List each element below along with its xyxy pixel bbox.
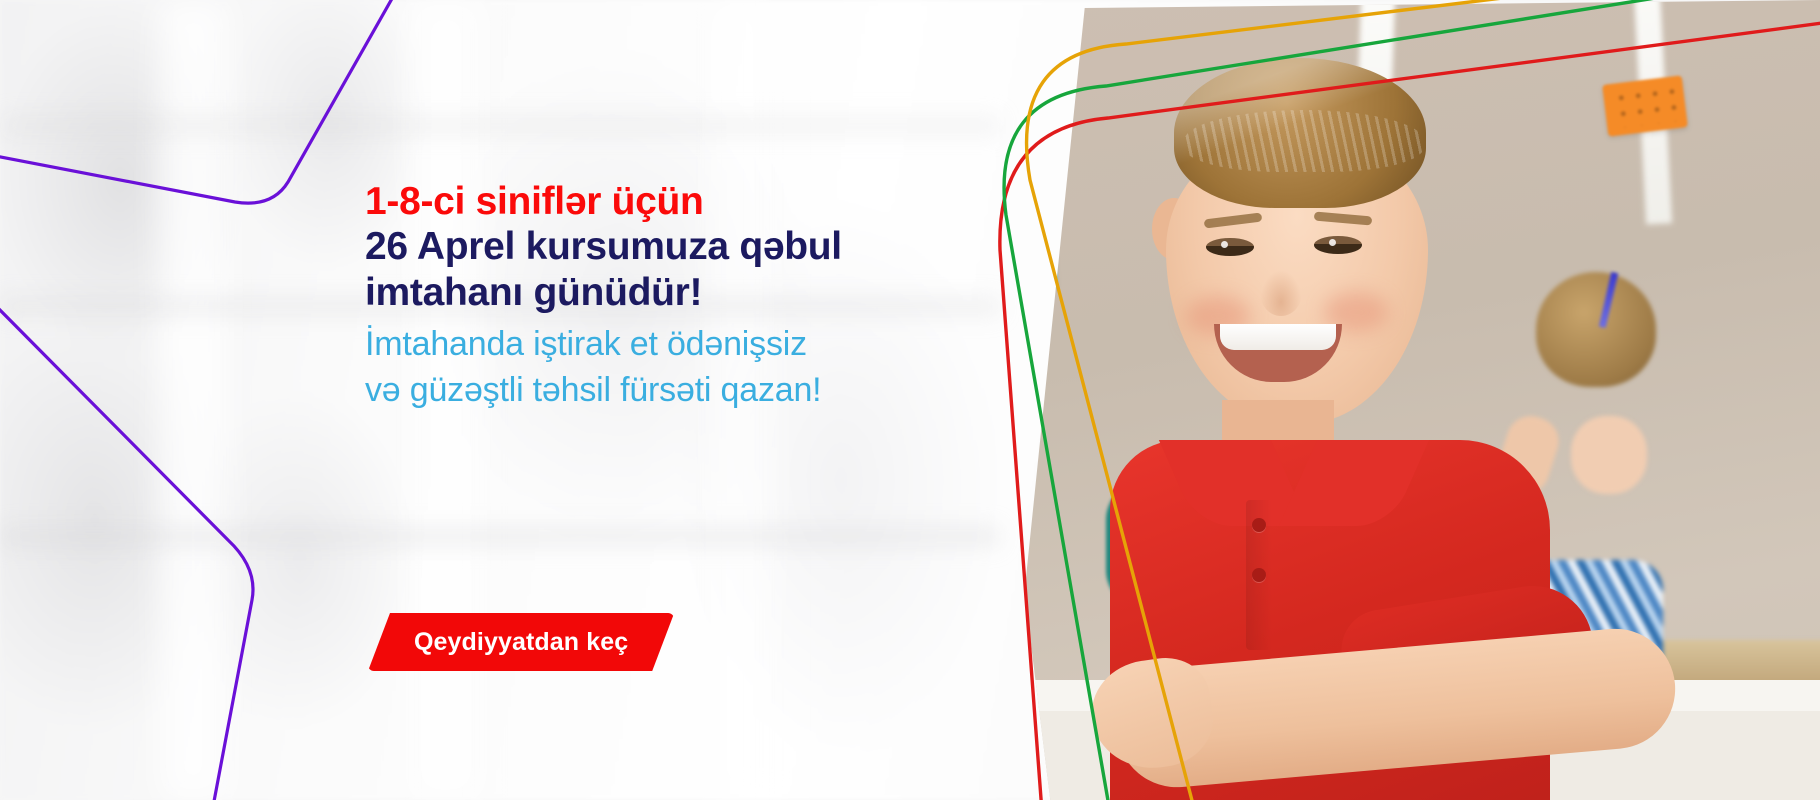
- student-teeth: [1220, 324, 1336, 350]
- subtitle-line-2: və güzəştli təhsil fürsəti qazan!: [365, 368, 1005, 414]
- student-shirt-button-top: [1252, 518, 1266, 532]
- student-nose: [1260, 270, 1302, 316]
- headline-navy-line-1: 26 Aprel kursumuza qəbul: [365, 224, 1005, 270]
- foreground-student: [1046, 48, 1686, 800]
- student-hair: [1174, 58, 1426, 208]
- register-cta-button[interactable]: Qeydiyyatdan keç: [368, 613, 674, 671]
- subtitle-line-1: İmtahanda iştirak et ödənişsiz: [365, 322, 1005, 368]
- student-eye-left: [1206, 238, 1254, 256]
- promo-banner: 1-8-ci siniflər üçün 26 Aprel kursumuza …: [0, 0, 1820, 800]
- student-shirt-button-bottom: [1252, 568, 1266, 582]
- student-photo: [960, 0, 1820, 800]
- headline-red: 1-8-ci siniflər üçün: [365, 180, 1005, 224]
- headline-navy-line-2: imtahanı günüdür!: [365, 270, 1005, 316]
- banner-copy: 1-8-ci siniflər üçün 26 Aprel kursumuza …: [365, 180, 1005, 413]
- student-eye-right: [1314, 236, 1362, 254]
